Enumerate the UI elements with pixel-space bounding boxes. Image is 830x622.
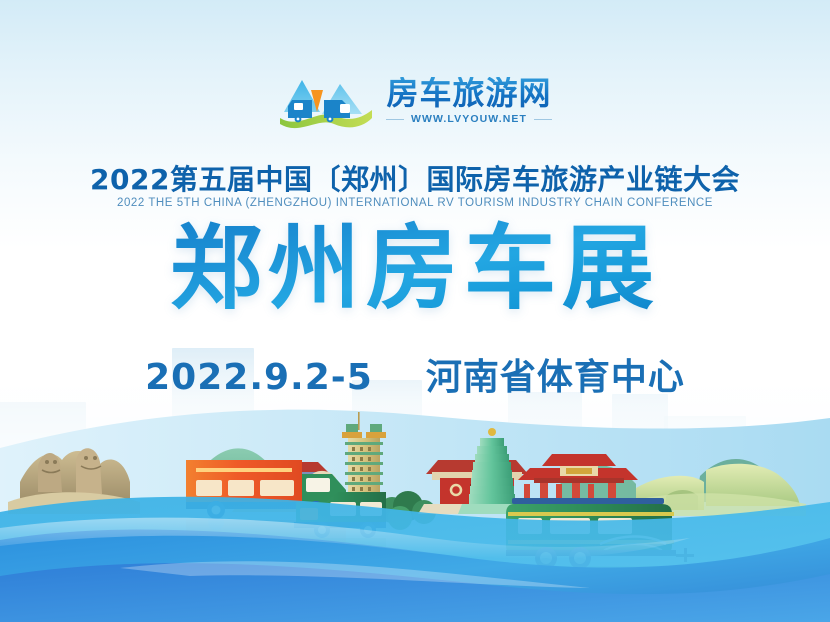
logo-dash-left xyxy=(386,119,403,121)
landmark-illustration xyxy=(0,362,830,622)
logo-url-row: WWW.LVYOUW.NET xyxy=(386,113,551,125)
conference-title-chinese: 2022第五届中国〔郑州〕国际房车旅游产业链大会 xyxy=(0,158,830,198)
page-title: 郑州房车展 xyxy=(0,218,830,319)
event-poster: 房车旅游网 WWW.LVYOUW.NET 2022第五届中国〔郑州〕国际房车旅游… xyxy=(0,0,830,622)
conference-title-english: 2022 THE 5TH CHINA (ZHENGZHOU) INTERNATI… xyxy=(0,197,830,209)
rv-mountain-logo-icon xyxy=(278,70,374,132)
logo-website-url: WWW.LVYOUW.NET xyxy=(411,113,527,125)
logo-dash-right xyxy=(534,119,551,121)
logo-text-block: 房车旅游网 WWW.LVYOUW.NET xyxy=(386,77,551,126)
scene-svg xyxy=(0,362,830,622)
brand-logo[interactable]: 房车旅游网 WWW.LVYOUW.NET xyxy=(0,66,830,136)
logo-brand-name: 房车旅游网 xyxy=(386,77,551,111)
